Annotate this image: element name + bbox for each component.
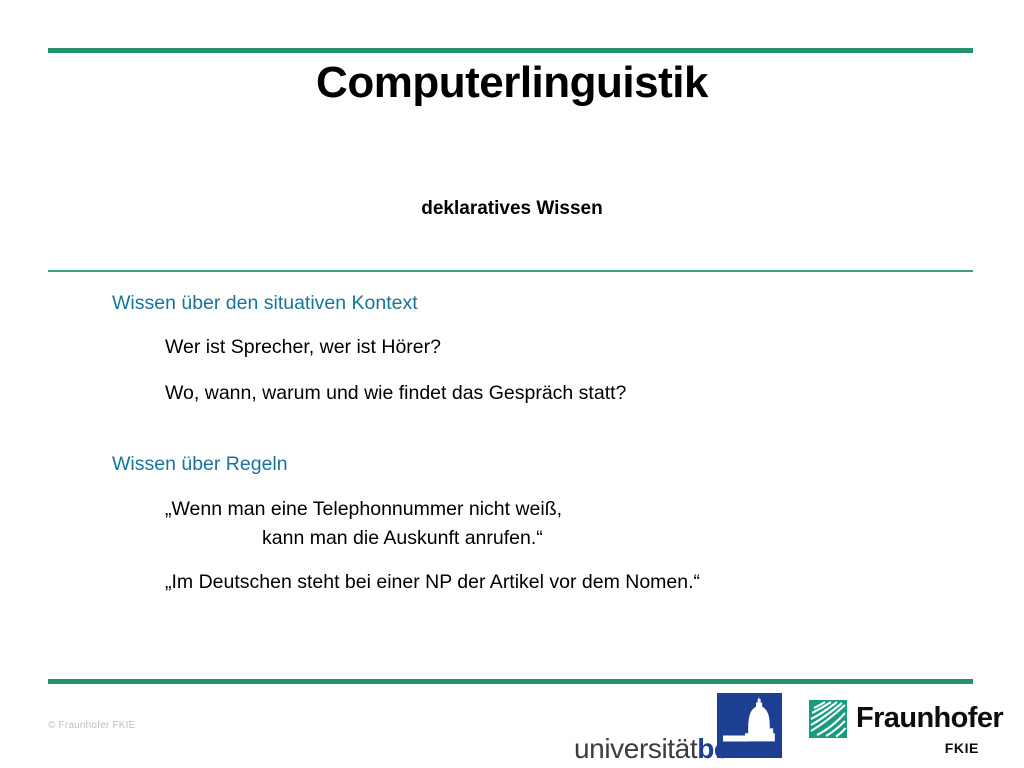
fraunhofer-stripes-icon	[809, 700, 847, 738]
copyright-notice: © Fraunhofer FKIE	[48, 720, 135, 731]
fraunhofer-logo: Fraunhofer FKIE	[809, 700, 979, 760]
section-heading: Wissen über Regeln	[112, 450, 1024, 479]
content-divider-rule	[48, 270, 973, 272]
university-bonn-logo: universitätbonn	[574, 693, 789, 765]
section-situativer-kontext: Wissen über den situativen Kontext Wer i…	[0, 289, 1024, 408]
body-line: „Im Deutschen steht bei einer NP der Art…	[165, 568, 1024, 597]
header-rule	[48, 48, 973, 53]
footer-rule	[48, 679, 973, 684]
fraunhofer-institute-label: FKIE	[945, 740, 979, 756]
body-line-continuation: kann man die Auskunft anrufen.“	[262, 524, 1024, 553]
slide-canvas: Computerlinguistik deklaratives Wissen W…	[0, 0, 1024, 768]
section-regeln: Wissen über Regeln „Wenn man eine Teleph…	[0, 450, 1024, 597]
fraunhofer-wordmark: Fraunhofer	[856, 702, 1003, 735]
page-title: Computerlinguistik	[0, 60, 1024, 106]
body-line: „Wenn man eine Telephonnummer nicht weiß…	[165, 495, 1024, 524]
wordmark-universitaet: universität	[574, 733, 697, 764]
body-line: Wo, wann, warum und wie findet das Gespr…	[165, 379, 1024, 408]
page-subtitle: deklaratives Wissen	[0, 198, 1024, 220]
university-bonn-wordmark: universitätbonn	[574, 735, 764, 763]
body-line: Wer ist Sprecher, wer ist Hörer?	[165, 333, 1024, 362]
wordmark-bonn: bonn	[697, 733, 764, 764]
section-heading: Wissen über den situativen Kontext	[112, 289, 1024, 318]
content-body: Wissen über den situativen Kontext Wer i…	[0, 289, 1024, 597]
